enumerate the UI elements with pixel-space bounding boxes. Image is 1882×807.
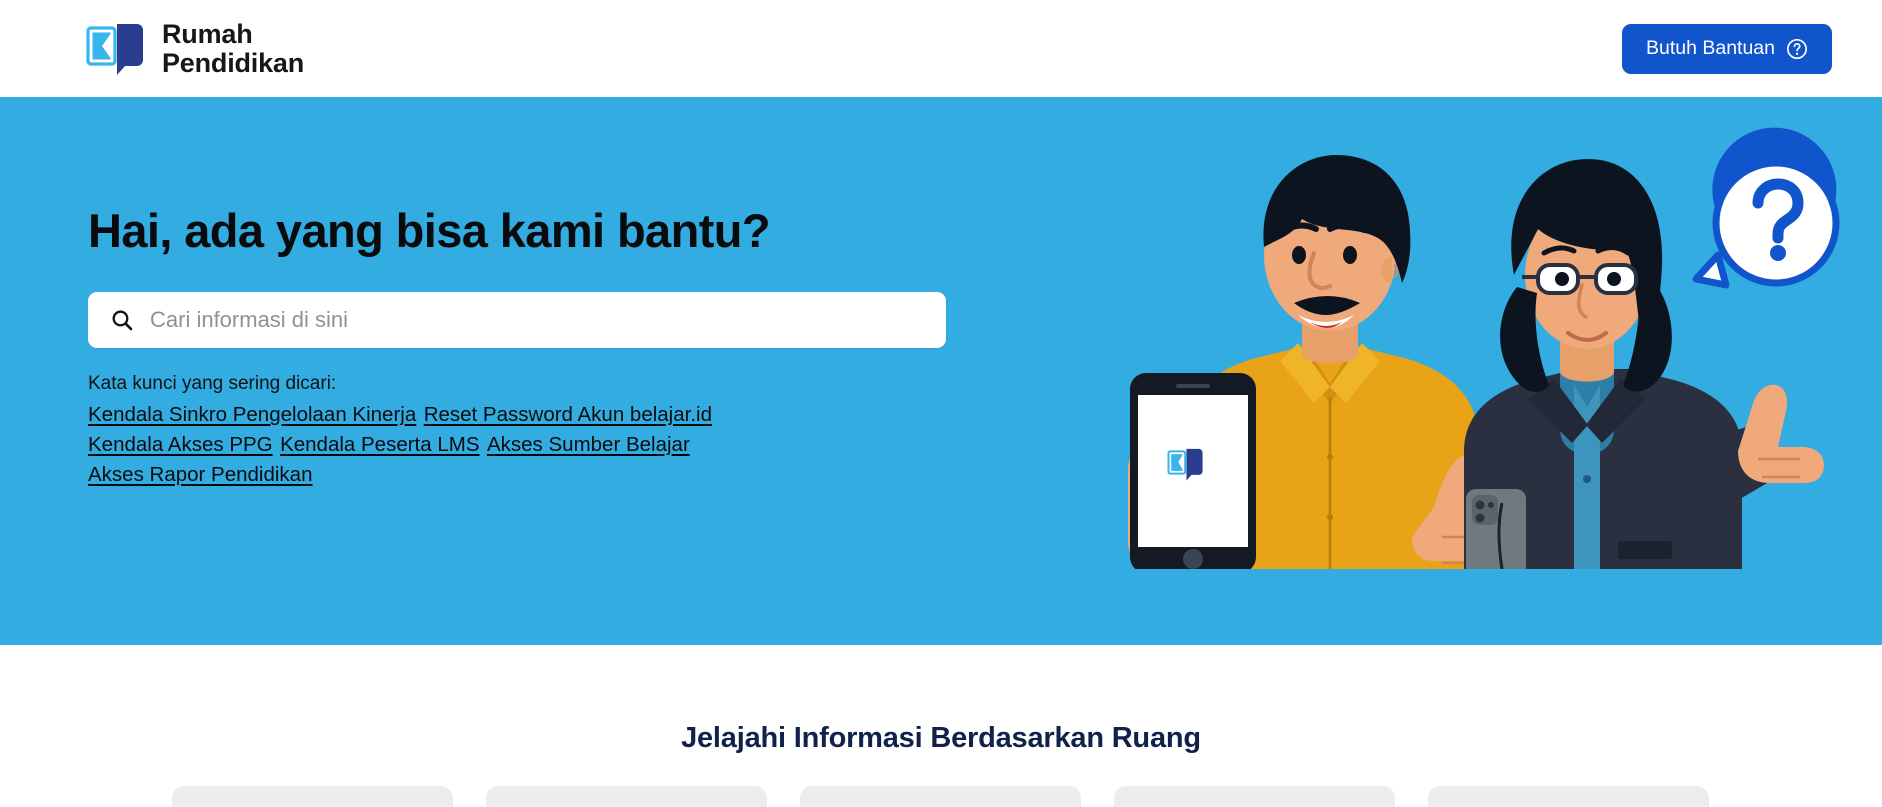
keyword-link-5[interactable]: Akses Sumber Belajar bbox=[487, 433, 690, 456]
question-bubble bbox=[1696, 128, 1836, 287]
brand-logo-block[interactable]: Rumah Pendidikan bbox=[84, 20, 304, 77]
page-title: Hai, ada yang bisa kami bantu? bbox=[88, 205, 968, 258]
search-input[interactable] bbox=[150, 292, 924, 348]
book-speech-bubble-logo-icon bbox=[84, 21, 146, 77]
keyword-link-3[interactable]: Kendala Akses PPG bbox=[88, 433, 273, 456]
hero-section: Hai, ada yang bisa kami bantu? Kata kunc… bbox=[0, 97, 1882, 645]
keyword-link-1[interactable]: Kendala Sinkro Pengelolaan Kinerja bbox=[88, 403, 416, 426]
help-button-label: Butuh Bantuan bbox=[1646, 37, 1775, 60]
popular-keywords-list: Kendala Sinkro Pengelolaan Kinerja Reset… bbox=[88, 400, 888, 489]
room-card-1[interactable] bbox=[172, 786, 453, 807]
search-icon bbox=[110, 308, 134, 332]
explore-section: Jelajahi Informasi Berdasarkan Ruang bbox=[0, 645, 1882, 807]
room-card-5[interactable] bbox=[1428, 786, 1709, 807]
room-card-row bbox=[172, 786, 1712, 807]
explore-heading: Jelajahi Informasi Berdasarkan Ruang bbox=[0, 722, 1882, 755]
popular-keywords-label: Kata kunci yang sering dicari: bbox=[88, 372, 968, 397]
page-root: Rumah Pendidikan Butuh Bantuan bbox=[0, 0, 1882, 807]
room-card-2[interactable] bbox=[486, 786, 767, 807]
room-card-3[interactable] bbox=[800, 786, 1081, 807]
keyword-link-6[interactable]: Akses Rapor Pendidikan bbox=[88, 463, 313, 486]
search-bar[interactable] bbox=[88, 292, 946, 348]
site-header: Rumah Pendidikan Butuh Bantuan bbox=[0, 0, 1882, 97]
room-card-4[interactable] bbox=[1114, 786, 1395, 807]
help-button[interactable]: Butuh Bantuan bbox=[1622, 24, 1832, 74]
hero-illustration bbox=[1062, 107, 1882, 607]
question-circle-icon bbox=[1786, 38, 1808, 60]
keyword-link-4[interactable]: Kendala Peserta LMS bbox=[280, 433, 479, 456]
hero-copy: Hai, ada yang bisa kami bantu? Kata kunc… bbox=[88, 205, 968, 489]
keyword-link-2[interactable]: Reset Password Akun belajar.id bbox=[424, 403, 712, 426]
brand-name: Rumah Pendidikan bbox=[162, 20, 304, 77]
